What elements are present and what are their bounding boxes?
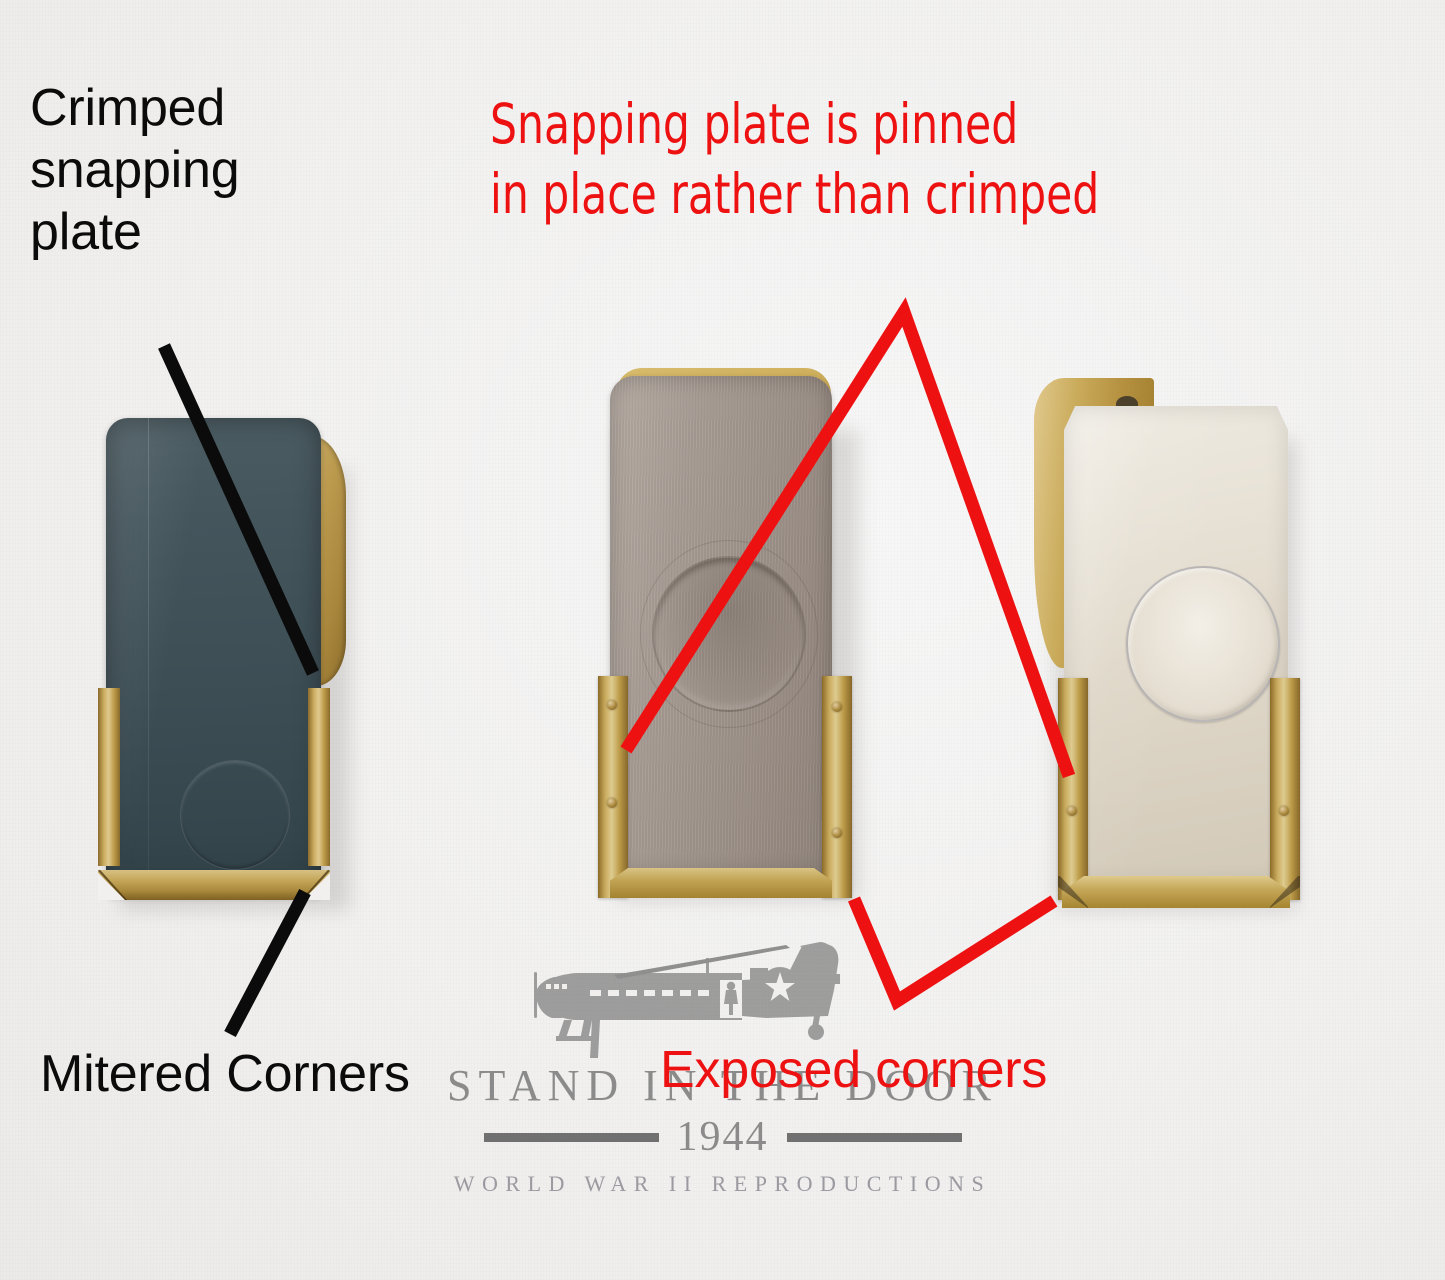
clip-right-nickel: [1034, 378, 1304, 918]
rivet-pin: [832, 702, 842, 712]
clip-middle-steel: [598, 368, 858, 908]
frame-rail-left: [98, 688, 120, 866]
brand-year: 1944: [677, 1113, 769, 1161]
label-crimped-snapping-plate: Crimped snapping plate: [30, 78, 239, 264]
clip-middle-bottom-strip: [610, 868, 832, 898]
clip-right-bottom-strip: [1062, 876, 1290, 908]
leader-line-mitered-corners: [230, 892, 305, 1034]
clip-right-round-emboss: [1126, 566, 1280, 722]
rivet-pin: [607, 700, 617, 710]
label-pinned-not-crimped: Snapping plate is pinned in place rather…: [490, 90, 1099, 230]
rule-right: [787, 1133, 962, 1142]
rivet-pin: [832, 828, 842, 838]
clip-middle-round-emboss: [652, 556, 806, 712]
clip-right-pinned-rail-left: [1058, 678, 1088, 900]
rivet-pin: [607, 798, 617, 808]
label-exposed-corners: Exposed corners: [660, 1044, 1047, 1096]
brand-year-row: 1944: [0, 1113, 1445, 1161]
rivet-pin: [1279, 806, 1289, 816]
rivet-pin: [1067, 806, 1077, 816]
clip-middle-pinned-rail-left: [598, 676, 628, 898]
frame-rail-bottom: [98, 870, 330, 900]
frame-rail-right: [308, 688, 330, 866]
clip-middle-snapping-plate: [610, 376, 832, 876]
clip-right-pinned-rail-right: [1270, 678, 1300, 900]
photo-canvas: STAND IN THE DOOR 1944 WORLD WAR II REPR…: [0, 0, 1445, 1280]
clip-left-blued: [98, 400, 348, 910]
clip-right-snapping-plate: [1064, 406, 1288, 886]
clip-left-mitered-brass-frame: [98, 688, 330, 900]
clip-middle-pinned-rail-right: [822, 676, 852, 898]
leader-line-exposed-corners: [854, 899, 1054, 1001]
rule-left: [484, 1133, 659, 1142]
brand-tagline: WORLD WAR II REPRODUCTIONS: [0, 1171, 1445, 1197]
label-mitered-corners: Mitered Corners: [40, 1048, 410, 1100]
